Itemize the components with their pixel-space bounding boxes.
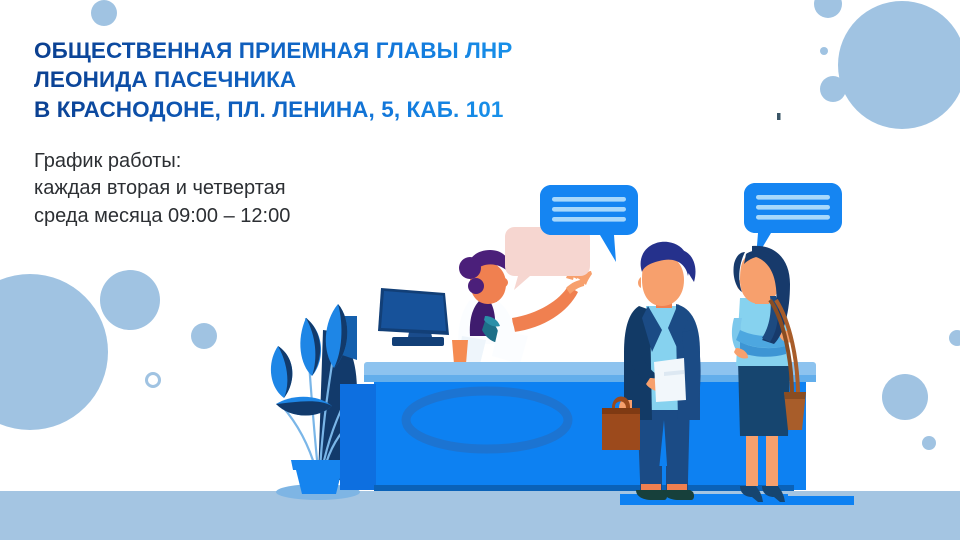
headline-line-1: ОБЩЕСТВЕННАЯ ПРИЕМНАЯ ГЛАВЫ ЛНР: [34, 36, 634, 65]
schedule-text: График работы: каждая вторая и четвертая…: [34, 148, 634, 231]
text-block: ОБЩЕСТВЕННАЯ ПРИЕМНАЯ ГЛАВЫ ЛНР ЛЕОНИДА …: [34, 36, 634, 231]
schedule-line-3: среда месяца 09:00 – 12:00: [34, 203, 634, 231]
poster-canvas: ОБЩЕСТВЕННАЯ ПРИЕМНАЯ ГЛАВЫ ЛНР ЛЕОНИДА …: [0, 0, 960, 540]
headline-line-3: В КРАСНОДОНЕ, ПЛ. ЛЕНИНА, 5, КАБ. 101: [34, 95, 634, 124]
pink-speech-bubble-icon: [505, 227, 590, 290]
schedule-line-2: каждая вторая и четвертая: [34, 175, 634, 203]
page-title: ОБЩЕСТВЕННАЯ ПРИЕМНАЯ ГЛАВЫ ЛНР ЛЕОНИДА …: [34, 36, 634, 124]
computer-monitor-icon: [378, 288, 449, 346]
headline-line-2: ЛЕОНИДА ПАСЕЧНИКА: [34, 65, 634, 94]
schedule-line-1: График работы:: [34, 148, 634, 176]
